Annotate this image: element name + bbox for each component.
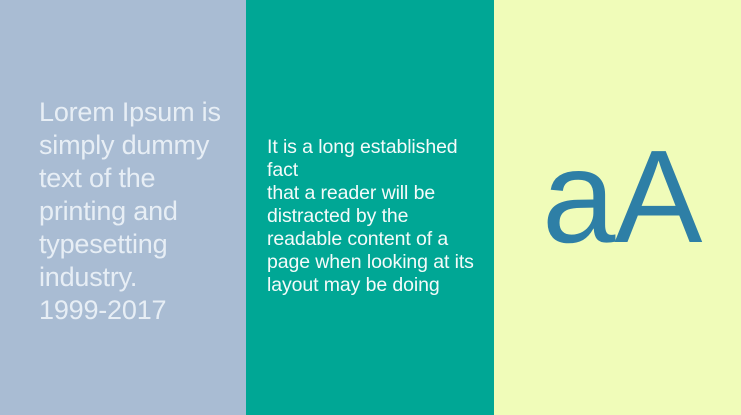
established-fact-panel: It is a long established fact that a rea… [246,0,494,415]
glyph-showcase-panel: aA [494,0,741,415]
established-fact-text: It is a long established fact that a rea… [267,136,479,297]
lorem-paragraph-text: Lorem Ipsum is simply dummy text of the … [39,96,239,327]
lorem-paragraph-panel: Lorem Ipsum is simply dummy text of the … [0,0,246,415]
type-specimen-canvas: Lorem Ipsum is simply dummy text of the … [0,0,741,415]
glyph-showcase-text: aA [542,131,701,263]
